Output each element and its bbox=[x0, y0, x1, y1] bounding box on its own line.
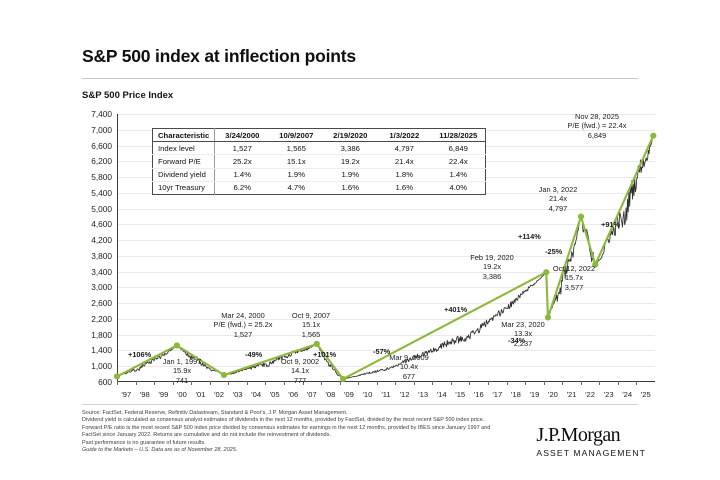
inflection-point-marker[interactable] bbox=[340, 376, 346, 382]
x-axis-tick-label: '00 bbox=[177, 390, 187, 399]
y-axis-tick-label: 6,600 bbox=[78, 141, 112, 151]
table-cell: 1.9% bbox=[323, 168, 377, 181]
column-header-date-2: 10/9/2007 bbox=[269, 129, 323, 142]
x-axis-tick-label: '12 bbox=[400, 390, 410, 399]
table-cell: 6,849 bbox=[431, 142, 486, 155]
x-axis-tick-label: '17 bbox=[492, 390, 502, 399]
y-axis-tick-label: 4,200 bbox=[78, 235, 112, 245]
y-axis-tick-label: 3,400 bbox=[78, 267, 112, 277]
annotation-line: 1,527 bbox=[214, 330, 273, 339]
x-axis-tick-label: '02 bbox=[214, 390, 224, 399]
table-cell: 1,527 bbox=[215, 142, 270, 155]
y-axis-tick-label: 1,000 bbox=[78, 361, 112, 371]
annotation-line: Oct 12, 2022 bbox=[553, 264, 595, 273]
x-axis-tick-label: '16 bbox=[474, 390, 484, 399]
return-label-ret-2002-2007: +101% bbox=[313, 350, 336, 359]
annotation-jan-3-2022: Jan 3, 202221.4x4,797 bbox=[539, 185, 578, 213]
x-axis-tick-label: '19 bbox=[529, 390, 539, 399]
annotation-line: 1,565 bbox=[292, 330, 330, 339]
table-cell: 1.6% bbox=[323, 181, 377, 194]
annotation-line: 777 bbox=[281, 376, 319, 385]
characteristics-table: Characteristic 3/24/2000 10/9/2007 2/19/… bbox=[152, 128, 486, 195]
annotation-line: 15.7x bbox=[553, 273, 595, 282]
x-axis-tick-label: '21 bbox=[567, 390, 577, 399]
footnote: Source: FactSet, Federal Reserve, Refini… bbox=[82, 410, 502, 454]
annotation-line: 3,577 bbox=[553, 283, 595, 292]
table-cell: 1.6% bbox=[377, 181, 431, 194]
x-axis-tick-label: '24 bbox=[622, 390, 632, 399]
table-row: 10yr Treasury6.2%4.7%1.6%1.6%4.0% bbox=[153, 181, 486, 194]
table-cell: 4,797 bbox=[377, 142, 431, 155]
annotation-line: 741 bbox=[163, 376, 202, 385]
table-cell: 1.8% bbox=[377, 168, 431, 181]
x-axis-tick-label: '07 bbox=[307, 390, 317, 399]
y-axis-tick-label: 7,400 bbox=[78, 109, 112, 119]
annotation-oct-9-2007: Oct 9, 200715.1x1,565 bbox=[292, 311, 330, 339]
annotation-jan-1-1997: Jan 1, 199715.9x741 bbox=[163, 357, 202, 385]
y-axis-tick-label: 4,600 bbox=[78, 219, 112, 229]
return-label-ret-2020-crash: -34% bbox=[508, 336, 525, 345]
x-axis-tick-label: '97 bbox=[121, 390, 131, 399]
y-axis-tick-label: 6,200 bbox=[78, 156, 112, 166]
footnote-line-1: Source: FactSet, Federal Reserve, Refini… bbox=[82, 410, 502, 417]
table-cell: 1.4% bbox=[431, 168, 486, 181]
y-axis-tick-label: 3,000 bbox=[78, 282, 112, 292]
inflection-point-marker[interactable] bbox=[543, 269, 549, 275]
table-cell: 6.2% bbox=[215, 181, 270, 194]
footnote-guide: Guide to the Markets – U.S. Data are as … bbox=[82, 447, 502, 454]
annotation-line: P/E (fwd.) = 25.2x bbox=[214, 320, 273, 329]
column-header-date-1: 3/24/2000 bbox=[215, 129, 270, 142]
table-cell: 4.7% bbox=[269, 181, 323, 194]
x-axis-tick-label: '01 bbox=[196, 390, 206, 399]
x-axis-tick-label: '06 bbox=[288, 390, 298, 399]
logo-wordmark: J.P.Morgan bbox=[536, 424, 646, 447]
inflection-point-marker[interactable] bbox=[221, 372, 227, 378]
table-cell: 15.1x bbox=[269, 155, 323, 168]
x-axis-labels: '97'98'99'00'01'02'03'04'05'06'07'08'09'… bbox=[117, 386, 655, 400]
x-axis-tick-label: '04 bbox=[251, 390, 261, 399]
annotation-mar-24-2000: Mar 24, 2000P/E (fwd.) = 25.2x1,527 bbox=[214, 311, 273, 339]
y-axis-tick-label: 5,000 bbox=[78, 204, 112, 214]
y-axis-tick-label: 7,000 bbox=[78, 125, 112, 135]
annotation-line: 19.2x bbox=[470, 262, 514, 271]
footnote-line-2: Dividend yield is calculated as consensu… bbox=[82, 417, 502, 439]
y-axis-tick-label: 1,800 bbox=[78, 330, 112, 340]
annotation-line: 10.4x bbox=[389, 362, 428, 371]
x-axis-tick-label: '18 bbox=[511, 390, 521, 399]
table-row: Index level1,5271,5653,3864,7976,849 bbox=[153, 142, 486, 155]
return-label-ret-2020-2022: +114% bbox=[518, 232, 541, 241]
return-label-ret-2009-2020: +401% bbox=[444, 305, 467, 314]
return-label-ret-2007-2009: -57% bbox=[373, 347, 390, 356]
table-cell: 1,565 bbox=[269, 142, 323, 155]
annotation-line: Mar 23, 2020 bbox=[501, 320, 545, 329]
x-axis-tick-label: '03 bbox=[233, 390, 243, 399]
annotation-oct-12-2022: Oct 12, 202215.7x3,577 bbox=[553, 264, 595, 292]
x-axis-tick-label: '10 bbox=[362, 390, 372, 399]
y-axis-labels: 7,4007,0006,6006,2005,8005,4005,0004,600… bbox=[76, 114, 112, 382]
row-label: Index level bbox=[153, 142, 215, 155]
table-cell: 4.0% bbox=[431, 181, 486, 194]
annotation-feb-19-2020: Feb 19, 202019.2x3,386 bbox=[470, 253, 514, 281]
annotation-line: Mar 9, 2009 bbox=[389, 353, 428, 362]
return-label-ret-2022-bear: -25% bbox=[545, 247, 562, 256]
annotation-line: 6,849 bbox=[568, 131, 627, 140]
return-label-ret-2000-2002: -49% bbox=[245, 350, 262, 359]
annotation-line: 3,386 bbox=[470, 272, 514, 281]
return-label-ret-1997-2000: +106% bbox=[128, 350, 151, 359]
y-axis-tick-label: 5,800 bbox=[78, 172, 112, 182]
table-cell: 25.2x bbox=[215, 155, 270, 168]
column-header-date-5: 11/28/2025 bbox=[431, 129, 486, 142]
jpmorgan-logo: J.P.Morgan ASSET MANAGEMENT bbox=[536, 424, 646, 458]
annotation-nov-28-2025: Nov 28, 2025P/E (fwd.) = 22.4x6,849 bbox=[568, 112, 627, 140]
inflection-point-marker[interactable] bbox=[114, 373, 120, 379]
x-axis-tick-label: '05 bbox=[270, 390, 280, 399]
row-label: Forward P/E bbox=[153, 155, 215, 168]
table-header: Characteristic 3/24/2000 10/9/2007 2/19/… bbox=[153, 129, 486, 142]
return-label-ret-2022-2025: +91% bbox=[601, 220, 620, 229]
annotation-line: Jan 1, 1997 bbox=[163, 357, 202, 366]
annotation-line: 15.1x bbox=[292, 320, 330, 329]
x-axis-tick-label: '25 bbox=[641, 390, 651, 399]
annotation-line: 677 bbox=[389, 372, 428, 381]
annotation-line: Nov 28, 2025 bbox=[568, 112, 627, 121]
x-axis-tick-label: '13 bbox=[418, 390, 428, 399]
inflection-point-marker[interactable] bbox=[578, 213, 584, 219]
y-axis-tick-label: 600 bbox=[78, 377, 112, 387]
column-header-date-3: 2/19/2020 bbox=[323, 129, 377, 142]
annotation-line: 14.1x bbox=[281, 366, 319, 375]
y-axis-tick-label: 2,200 bbox=[78, 314, 112, 324]
x-axis-tick-label: '99 bbox=[158, 390, 168, 399]
x-axis-tick-label: '22 bbox=[585, 390, 595, 399]
table-cell: 3,386 bbox=[323, 142, 377, 155]
annotation-mar-9-2009: Mar 9, 200910.4x677 bbox=[389, 353, 428, 381]
page-title: S&P 500 index at inflection points bbox=[82, 46, 356, 67]
column-header-date-4: 1/3/2022 bbox=[377, 129, 431, 142]
y-axis-tick-label: 1,400 bbox=[78, 345, 112, 355]
annotation-oct-9-2002: Oct 9, 200214.1x777 bbox=[281, 357, 319, 385]
inflection-point-marker[interactable] bbox=[174, 342, 180, 348]
x-axis-tick-label: '11 bbox=[381, 390, 390, 399]
row-label: 10yr Treasury bbox=[153, 181, 215, 194]
chart-subtitle: S&P 500 Price Index bbox=[82, 90, 173, 101]
annotation-line: P/E (fwd.) = 22.4x bbox=[568, 121, 627, 130]
y-axis-tick-label: 3,800 bbox=[78, 251, 112, 261]
title-divider bbox=[82, 78, 638, 79]
x-axis-tick-label: '09 bbox=[344, 390, 354, 399]
table-row: Forward P/E25.2x15.1x19.2x21.4x22.4x bbox=[153, 155, 486, 168]
footer-divider bbox=[82, 404, 638, 405]
inflection-point-marker[interactable] bbox=[650, 133, 656, 139]
y-axis-tick-label: 5,400 bbox=[78, 188, 112, 198]
x-axis-tick-label: '98 bbox=[140, 390, 150, 399]
annotation-line: Jan 3, 2022 bbox=[539, 185, 578, 194]
table-body: Index level1,5271,5653,3864,7976,849Forw… bbox=[153, 142, 486, 195]
annotation-line: Mar 24, 2000 bbox=[214, 311, 273, 320]
table-cell: 22.4x bbox=[431, 155, 486, 168]
table-cell: 19.2x bbox=[323, 155, 377, 168]
inflection-point-marker[interactable] bbox=[545, 314, 551, 320]
column-header-characteristic: Characteristic bbox=[153, 129, 215, 142]
annotation-line: 4,797 bbox=[539, 204, 578, 213]
table-cell: 1.4% bbox=[215, 168, 270, 181]
inflection-point-marker[interactable] bbox=[314, 341, 320, 347]
footnote-line-3: Past performance is no guarantee of futu… bbox=[82, 440, 502, 447]
x-axis-tick-label: '14 bbox=[437, 390, 447, 399]
x-axis-tick-label: '08 bbox=[325, 390, 335, 399]
table-header-row: Characteristic 3/24/2000 10/9/2007 2/19/… bbox=[153, 129, 486, 142]
table-cell: 21.4x bbox=[377, 155, 431, 168]
annotation-line: 21.4x bbox=[539, 194, 578, 203]
row-label: Dividend yield bbox=[153, 168, 215, 181]
x-axis-tick-label: '20 bbox=[548, 390, 558, 399]
annotation-line: Oct 9, 2007 bbox=[292, 311, 330, 320]
y-axis-tick-label: 2,600 bbox=[78, 298, 112, 308]
slide-root: S&P 500 index at inflection points S&P 5… bbox=[0, 0, 720, 480]
annotation-line: 15.9x bbox=[163, 366, 202, 375]
annotation-line: Feb 19, 2020 bbox=[470, 253, 514, 262]
x-axis-tick-label: '15 bbox=[455, 390, 465, 399]
table-cell: 1.9% bbox=[269, 168, 323, 181]
x-axis-tick-label: '23 bbox=[604, 390, 614, 399]
logo-tagline: ASSET MANAGEMENT bbox=[536, 448, 646, 458]
table-row: Dividend yield1.4%1.9%1.9%1.8%1.4% bbox=[153, 168, 486, 181]
